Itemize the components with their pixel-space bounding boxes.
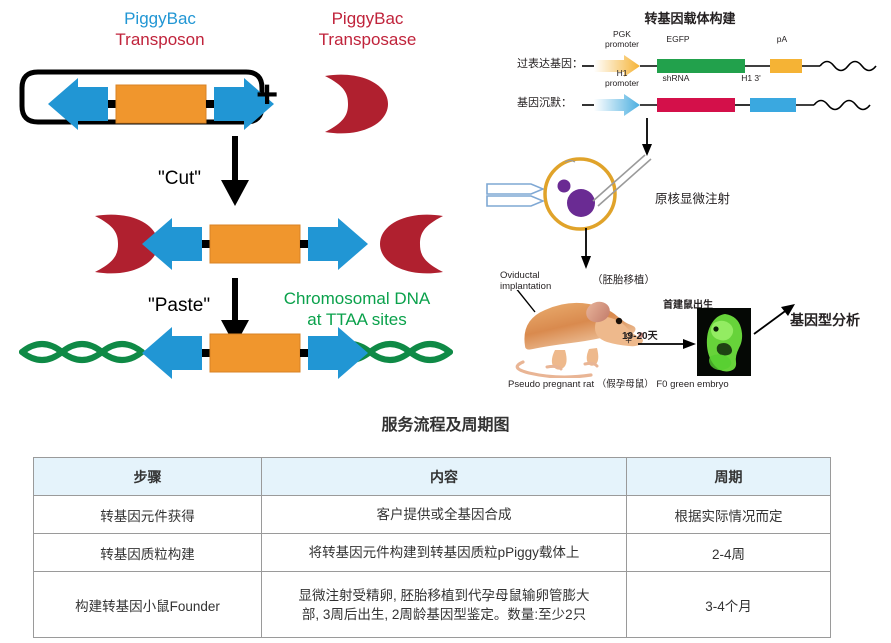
row3-content-line2: 部, 3周后出生, 2周龄基因型鉴定。数量:至少2只 [302, 607, 586, 622]
plus-sign: + [256, 76, 278, 114]
h1-3prime-caption: H1 3' [723, 74, 779, 84]
holding-pipette-upper [487, 184, 543, 194]
terminator-squiggle-2 [814, 101, 870, 110]
male-pronucleus [567, 189, 595, 217]
table-header-content: 内容 [262, 458, 627, 496]
oviductal-pointer-line [505, 290, 535, 312]
ttaa-bot-right [300, 349, 308, 357]
row2-step: 转基因质粒构建 [34, 534, 262, 572]
genotype-analysis-label: 基因型分析 [790, 310, 860, 330]
pa-box [770, 59, 802, 73]
shrna-caption: shRNA [638, 74, 714, 84]
overexpression-row-label: 过表达基因： [517, 55, 583, 71]
ttaa-site-left [108, 100, 116, 108]
transposon-label-line2: Transposon [60, 29, 260, 50]
transposon-label-line1: PiggyBac [60, 8, 260, 29]
table-row: 构建转基因小鼠Founder 显微注射受精卵, 胚胎移植到代孕母鼠输卵管膨大 部… [34, 572, 831, 638]
row2-content: 将转基因元件构建到转基因质粒pPiggy载体上 [262, 534, 627, 572]
embryo-eye-dark [713, 326, 718, 331]
piggybac-transposon-label: PiggyBac Transposon [60, 8, 260, 50]
h1-caption-line1: H1 [617, 68, 628, 78]
shrna-box [657, 98, 735, 112]
row3-content-line1: 显微注射受精卵, 胚胎移植到代孕母鼠输卵管膨大 [298, 588, 589, 603]
diagram-canvas: PiggyBac Transposon PiggyBac Transposase… [0, 0, 891, 643]
cargo-gene-box [116, 85, 206, 123]
excised-itr-left [142, 218, 202, 270]
transposase-protein [325, 75, 388, 134]
integrated-itr-right [308, 327, 368, 379]
pgk-caption-line1: PGK [613, 29, 631, 39]
egfp-caption: EGFP [639, 35, 717, 45]
table-header-period: 周期 [627, 458, 831, 496]
ttaa-bot-left [202, 349, 210, 357]
excised-itr-right [308, 218, 368, 270]
transposase-bound-right [380, 215, 443, 274]
service-table-title: 服务流程及周期图 [0, 411, 891, 435]
cut-step-label: "Cut" [158, 168, 201, 190]
row3-step: 构建转基因小鼠Founder [34, 572, 262, 638]
pa-caption: pA [757, 35, 807, 45]
gfp-embryo-image [697, 308, 751, 376]
table-row: 转基因质粒构建 将转基因元件构建到转基因质粒pPiggy载体上 2-4周 [34, 534, 831, 572]
integrated-itr-left [142, 327, 202, 379]
row1-period: 根据实际情况而定 [627, 496, 831, 534]
arrow-to-implantation [575, 228, 597, 270]
chromosomal-label-line2: at TTAA sites [262, 309, 452, 330]
piggybac-transposase-label: PiggyBac Transposase [280, 8, 455, 50]
integrated-cargo-box [210, 334, 300, 372]
chromosomal-label-line1: Chromosomal DNA [262, 288, 452, 309]
paste-step-label: "Paste" [148, 295, 210, 317]
oviductal-label-line1: Oviductal [500, 270, 551, 281]
transposase-label-line2: Transposase [280, 29, 455, 50]
mouse-eye [616, 318, 622, 324]
h1-promoter-arrow [594, 94, 640, 116]
holding-pipette-lower [487, 196, 543, 206]
row1-step: 转基因元件获得 [34, 496, 262, 534]
service-process-table: 步骤 内容 周期 转基因元件获得 客户提供或全基因合成 根据实际情况而定 转基因… [33, 457, 831, 638]
table-header-step: 步骤 [34, 458, 262, 496]
embryo-transfer-label: （胚胎移植） [592, 272, 655, 287]
gestation-days-label: 19-20天 [622, 327, 658, 342]
table-header-row: 步骤 内容 周期 [34, 458, 831, 496]
excised-cargo-box [210, 225, 300, 263]
row3-content: 显微注射受精卵, 胚胎移植到代孕母鼠输卵管膨大 部, 3周后出生, 2周龄基因型… [262, 572, 627, 638]
oviductal-implantation-label: Oviductal implantation [500, 270, 551, 292]
ttaa-mid-left [202, 240, 210, 248]
silencing-row-label: 基因沉默： [517, 94, 572, 110]
pseudopregnant-caption: Pseudo pregnant rat （假孕母鼠） F0 green embr… [508, 376, 729, 390]
row3-period: 3-4个月 [627, 572, 831, 638]
pronuclear-microinjection-graphic [485, 148, 670, 238]
table-row: 转基因元件获得 客户提供或全基因合成 根据实际情况而定 [34, 496, 831, 534]
piggybac-mechanism-graphic [0, 40, 470, 390]
h1-caption-line2: promoter [605, 78, 639, 88]
mouse-hind-foot [547, 366, 561, 369]
cut-arrow-head [221, 180, 249, 206]
microinjection-label: 原核显微注射 [655, 188, 730, 207]
row2-period: 2-4周 [627, 534, 831, 572]
ttaa-mid-right [300, 240, 308, 248]
ttaa-site-right [206, 100, 214, 108]
transposase-label-line1: PiggyBac [280, 8, 455, 29]
egfp-box [657, 59, 745, 73]
terminator-squiggle-1 [820, 62, 876, 71]
pgk-caption-line2: promoter [605, 39, 639, 49]
row1-content: 客户提供或全基因合成 [262, 496, 627, 534]
vector-construction-title: 转基因载体构建 [580, 8, 800, 27]
h1-3prime-box [750, 98, 796, 112]
silencing-construct-graphic [582, 91, 882, 117]
chromosomal-dna-label: Chromosomal DNA at TTAA sites [262, 288, 452, 330]
female-pronucleus [558, 180, 571, 193]
